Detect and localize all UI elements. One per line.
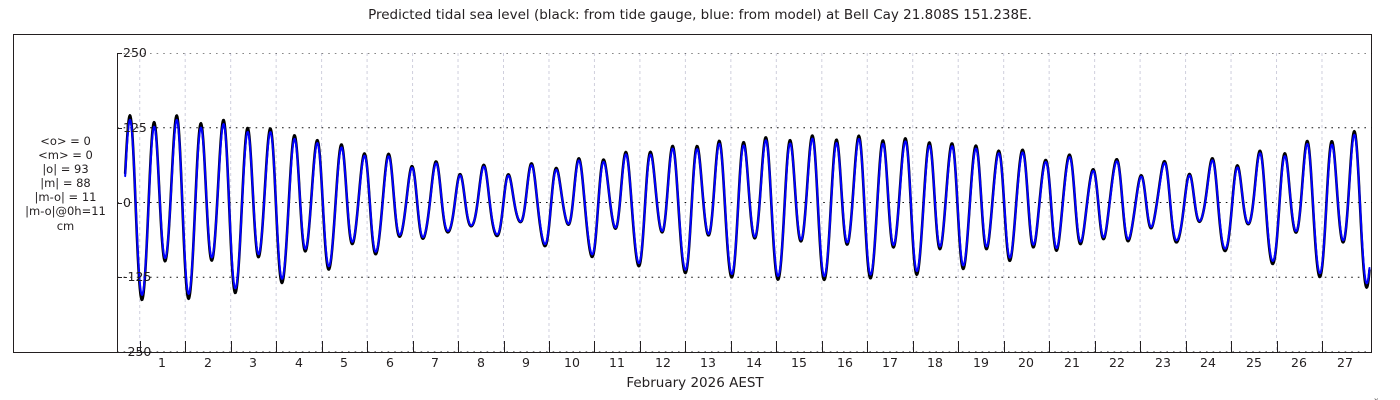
x-axis-label: 6 [386,356,394,370]
y-axis-label: -125 [123,271,151,283]
x-axis-tick [1095,341,1096,352]
x-axis-tick [458,341,459,352]
x-axis-label: 18 [927,356,943,370]
y-axis-tick [117,277,122,278]
x-axis-tick [640,341,641,352]
stat-abs-model: |m| = 88 [16,176,115,190]
y-axis-label: 250 [123,47,147,59]
x-axis-tick [958,341,959,352]
x-axis-tick [276,341,277,352]
x-axis-tick [731,341,732,352]
y-axis-tick [117,53,122,54]
stat-units: cm [16,219,115,233]
x-axis-label: 12 [655,356,671,370]
y-axis-tick [117,203,122,204]
x-axis-label: 16 [837,356,853,370]
x-axis-label: 20 [1018,356,1034,370]
x-axis-tick [1277,341,1278,352]
x-axis-tick [1140,341,1141,352]
x-axis-label: 2 [204,356,212,370]
x-axis-tick [776,341,777,352]
x-axis-label: 23 [1155,356,1171,370]
stat-mean-observed: <o> = 0 [16,134,115,148]
x-axis-label: 5 [340,356,348,370]
x-axis-tick [1186,341,1187,352]
x-axis-label: 19 [973,356,989,370]
x-axis-line [13,352,1372,353]
x-axis-label: 13 [700,356,716,370]
plot-area [117,53,1372,352]
x-axis-label: 22 [1109,356,1125,370]
x-axis-label: 15 [791,356,807,370]
x-axis-label: 21 [1064,356,1080,370]
x-axis-tick [685,341,686,352]
x-axis-tick [1322,341,1323,352]
x-axis-label: 27 [1337,356,1353,370]
x-axis-label: 9 [522,356,530,370]
stat-abs-difference: |m-o| = 11 [16,190,115,204]
tidal-chart-page: Predicted tidal sea level (black: from t… [0,0,1400,400]
stat-abs-observed: |o| = 93 [16,162,115,176]
x-axis-tick [594,341,595,352]
x-axis-label: 4 [295,356,303,370]
x-axis-tick [549,341,550,352]
x-axis-label: 10 [564,356,580,370]
x-axis-label: 3 [249,356,257,370]
x-axis-label: 14 [746,356,762,370]
x-axis-label: 7 [431,356,439,370]
x-axis-label: 25 [1246,356,1262,370]
x-axis-tick [1231,341,1232,352]
x-axis-tick [231,341,232,352]
x-axis-tick [140,341,141,352]
x-axis-tick [413,341,414,352]
x-axis-label: 26 [1291,356,1307,370]
x-axis-title-text: February 2026 AEST [626,375,763,391]
y-axis-tick [117,128,122,129]
x-axis-tick [913,341,914,352]
stat-mean-model: <m> = 0 [16,148,115,162]
x-axis-tick [822,341,823,352]
x-axis-label: 24 [1200,356,1216,370]
y-axis-label: 0 [123,197,131,209]
page-title: Predicted tidal sea level (black: from t… [0,7,1400,23]
x-axis-tick [1004,341,1005,352]
x-axis-tick [504,341,505,352]
stat-abs-difference-0h: |m-o|@0h=11 [16,204,115,218]
x-axis-title: February 2026 AEST [0,375,1400,391]
y-axis-label: 125 [123,122,147,134]
x-axis-label: 11 [609,356,625,370]
x-axis-label: 17 [882,356,898,370]
statistics-block: <o> = 0 <m> = 0 |o| = 93 |m| = 88 |m-o| … [16,134,115,233]
x-axis-label: 8 [477,356,485,370]
x-axis-tick [185,341,186,352]
tidal-series-plot [117,53,1372,352]
x-axis-tick [367,341,368,352]
x-axis-label: 1 [158,356,166,370]
x-axis-tick [1049,341,1050,352]
x-axis-tick [322,341,323,352]
x-axis-tick [867,341,868,352]
